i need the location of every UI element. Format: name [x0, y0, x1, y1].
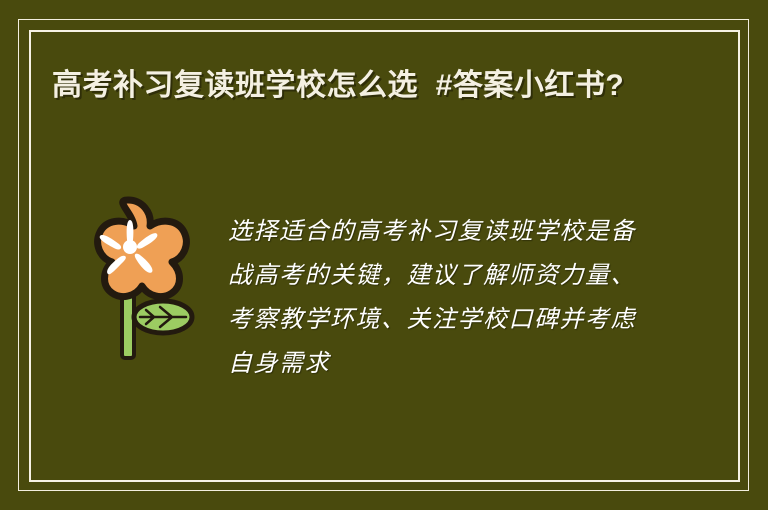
page-title: 高考补习复读班学校怎么选 #答案小红书?: [52, 60, 652, 112]
flower-petals: [98, 200, 187, 297]
body-paragraph: 选择适合的高考补习复读班学校是备战高考的关键，建议了解师资力量、考察教学环境、关…: [228, 209, 648, 385]
poster-card: 高考补习复读班学校怎么选 #答案小红书?: [0, 0, 768, 510]
flower-leaf: [134, 301, 192, 333]
flower-illustration: [62, 192, 202, 372]
